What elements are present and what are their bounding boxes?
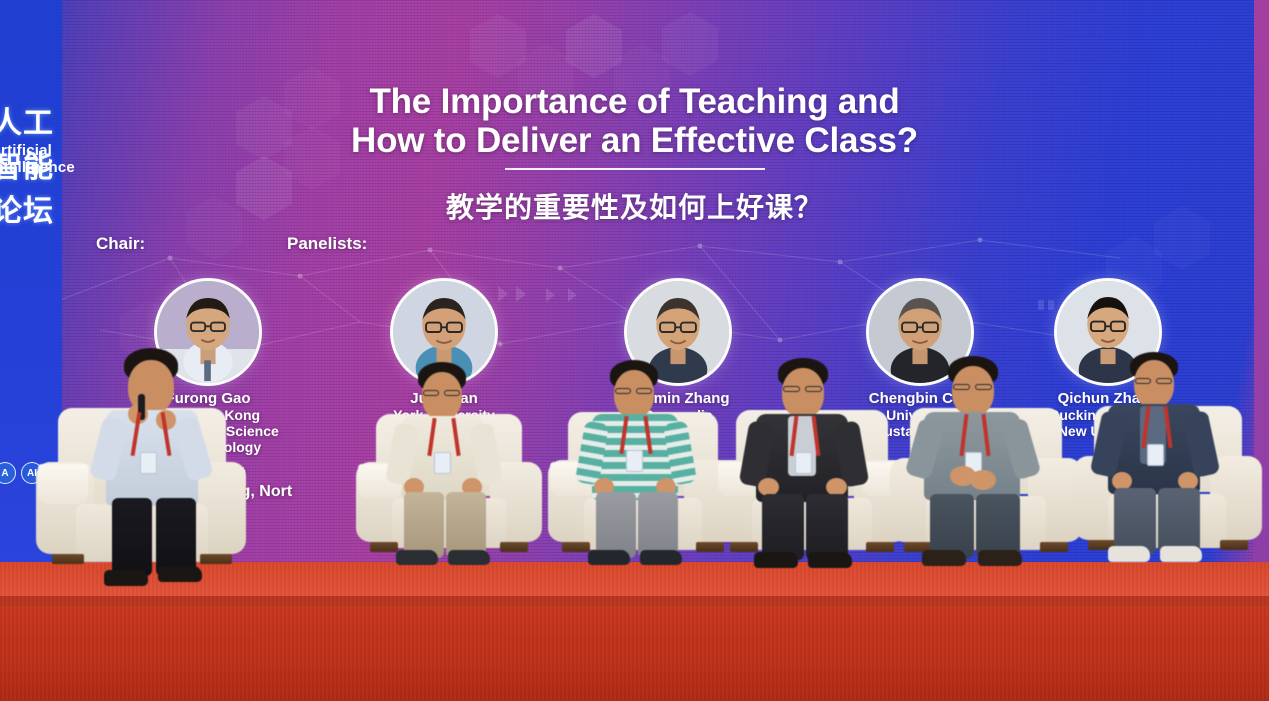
name-badge-1 bbox=[140, 452, 157, 474]
armrest-cover-1 bbox=[38, 464, 88, 504]
name-badge-6 bbox=[1147, 444, 1164, 466]
person-panelist-5 bbox=[1096, 352, 1232, 566]
person-panelist-2 bbox=[578, 360, 708, 568]
person-panelist-4 bbox=[912, 356, 1052, 568]
sponsor-badge-icon-1: A bbox=[0, 462, 16, 484]
name-badge-2 bbox=[434, 452, 451, 474]
title-divider-rule bbox=[505, 168, 765, 170]
label-panelists: Panelists: bbox=[287, 234, 367, 254]
person-panelist-3 bbox=[744, 358, 880, 570]
label-chair: Chair: bbox=[96, 234, 145, 254]
stage-floor-foreground bbox=[0, 606, 1269, 701]
conference-panel-photo: 人工智能论坛 Artificial Intelligence A AI ● Th… bbox=[0, 0, 1269, 701]
session-title-line-2: How to Deliver an Effective Class? bbox=[0, 121, 1269, 160]
person-chair-moderator bbox=[84, 348, 230, 588]
session-title-line-1: The Importance of Teaching and bbox=[0, 82, 1269, 121]
session-title-english: The Importance of Teaching and How to De… bbox=[0, 82, 1269, 160]
person-panelist-1 bbox=[386, 362, 516, 568]
stage-step-edge bbox=[0, 596, 1269, 606]
session-title-chinese: 教学的重要性及如何上好课？ bbox=[0, 186, 1269, 226]
name-badge-4 bbox=[795, 452, 812, 474]
name-badge-3 bbox=[626, 450, 643, 472]
